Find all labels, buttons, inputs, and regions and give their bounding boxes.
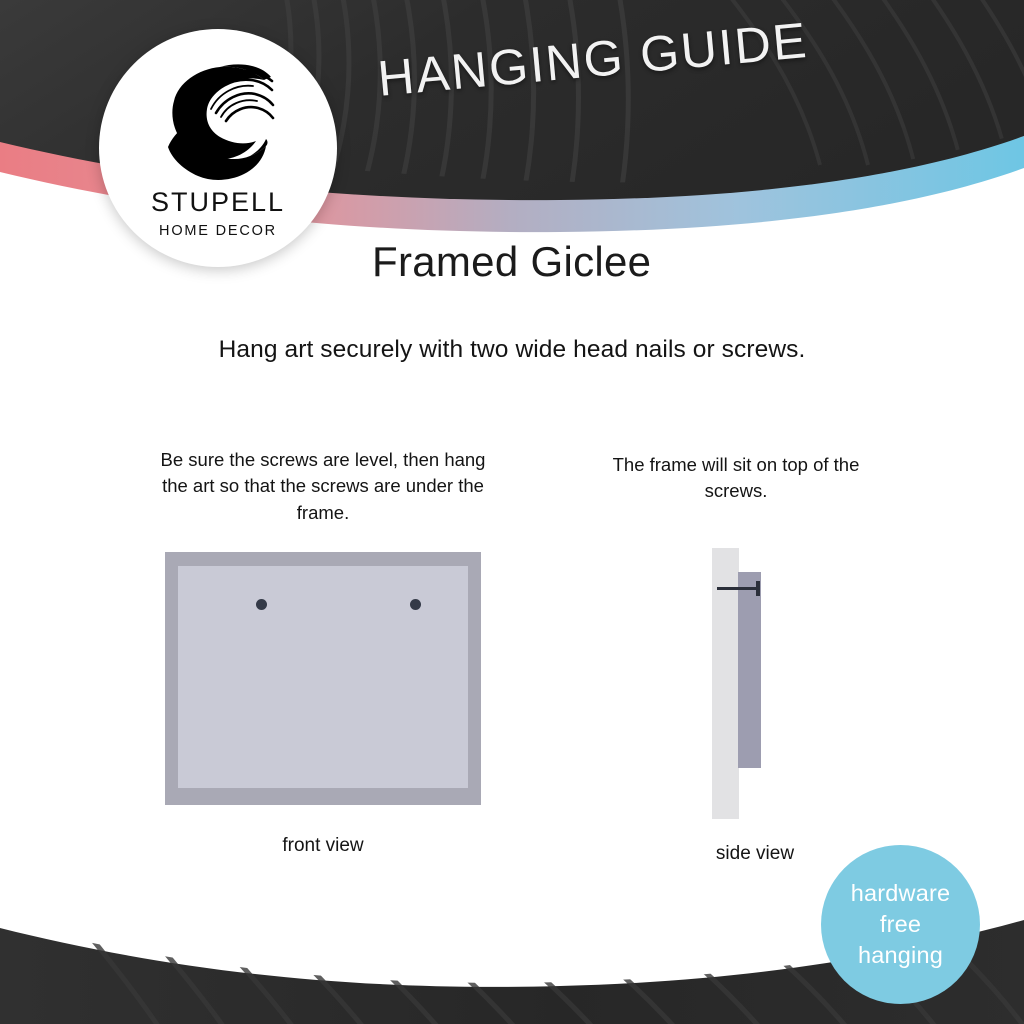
side-view-frame	[738, 572, 761, 768]
brand-name: STUPELL	[151, 189, 285, 216]
screw-dot-right	[410, 599, 421, 610]
page-title: HANGING GUIDE	[375, 11, 810, 108]
side-view-label: side view	[678, 843, 832, 865]
side-view-caption: The frame will sit on top of the screws.	[600, 452, 872, 505]
hanging-guide-page: HANGING GUIDE STUPELL HOM	[0, 0, 1024, 1024]
badge-line-2: free	[880, 909, 921, 940]
front-view-label: front view	[165, 835, 481, 857]
front-view-caption: Be sure the screws are level, then hang …	[158, 447, 488, 526]
front-view-mat	[178, 566, 468, 788]
badge-line-3: hanging	[858, 940, 943, 971]
stupell-swoosh-icon	[160, 55, 276, 183]
brand-logo-badge: STUPELL HOME DECOR	[99, 29, 337, 267]
badge-line-1: hardware	[851, 878, 951, 909]
nail-icon	[717, 587, 759, 590]
hardware-free-hanging-badge: hardware free hanging	[821, 845, 980, 1004]
lede-text: Hang art securely with two wide head nai…	[0, 336, 1024, 364]
screw-dot-left	[256, 599, 267, 610]
side-view-diagram	[700, 545, 810, 823]
product-name: Framed Giclee	[372, 238, 651, 286]
nail-head-icon	[756, 581, 760, 596]
brand-tagline: HOME DECOR	[159, 224, 277, 239]
front-view-diagram	[165, 552, 481, 805]
